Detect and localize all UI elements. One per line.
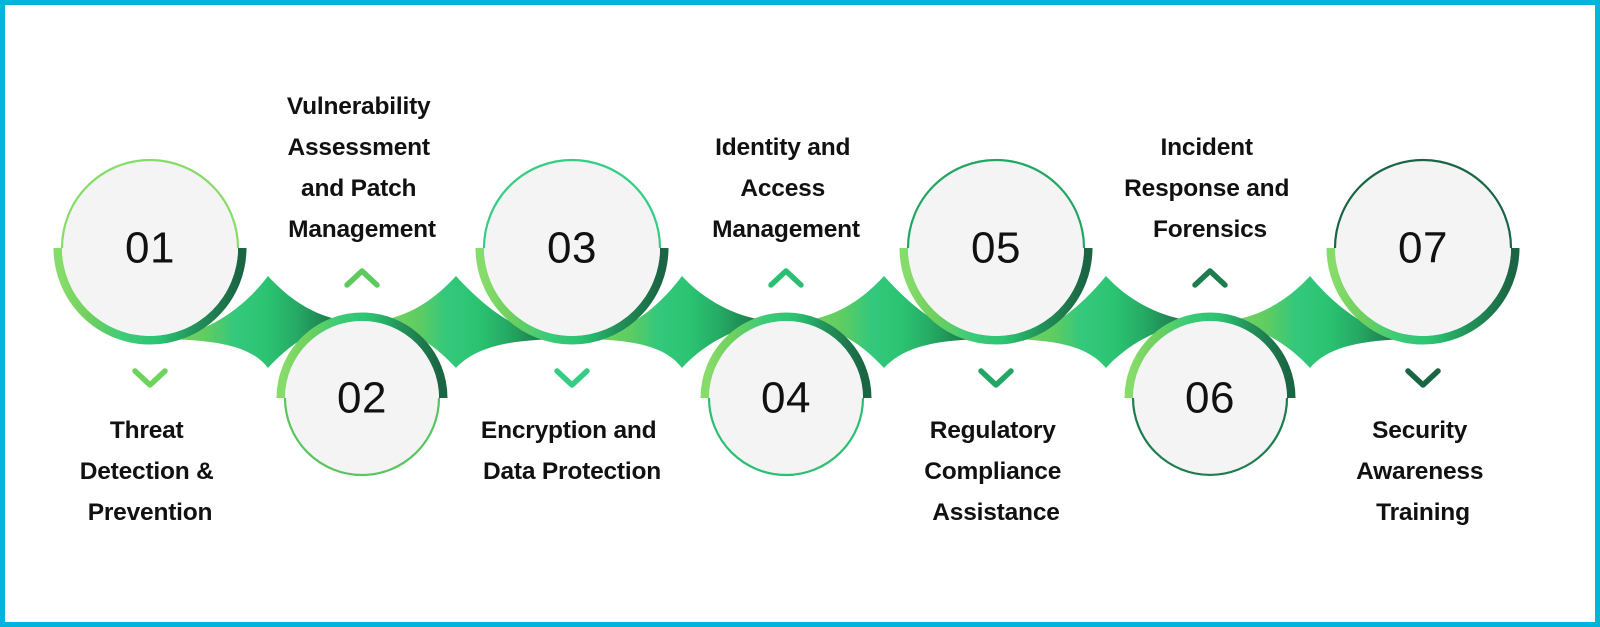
step-label-01: Threat Detection & Prevention [80,417,221,526]
step-number-02: 02 [337,374,387,423]
step-label-07: Security Awareness Training [1356,417,1490,526]
step-number-04: 04 [761,374,811,423]
chevron-up-icon-06 [1195,271,1225,285]
step-number-03: 03 [547,224,597,273]
step-label-03: Encryption and Data Protection [481,417,663,485]
step-node-06[interactable]: 06 [1133,321,1287,475]
chevron-up-icon-04 [771,271,801,285]
step-number-06: 06 [1185,374,1235,423]
step-label-04: Identity and Access Management [712,134,860,243]
chevron-up-icon-02 [347,271,377,285]
step-label-05: Regulatory Compliance Assistance [924,417,1067,526]
chevron-down-icon-07 [1408,371,1438,385]
chevron-down-icon-03 [557,371,587,385]
chevron-down-icon-05 [981,371,1011,385]
step-node-07[interactable]: 07 [1335,160,1511,336]
step-node-01[interactable]: 01 [62,160,238,336]
step-label-06: Incident Response and Forensics [1124,134,1296,243]
step-label-02: Vulnerability Assessment and Patch Manag… [287,93,437,243]
chevron-down-icon-01 [135,371,165,385]
step-node-05[interactable]: 05 [908,160,1084,336]
step-node-02[interactable]: 02 [285,321,439,475]
step-number-07: 07 [1398,224,1448,273]
step-number-05: 05 [971,224,1021,273]
step-node-04[interactable]: 04 [709,321,863,475]
process-flow-diagram: 01 02 03 04 05 [0,0,1600,627]
step-node-03[interactable]: 03 [484,160,660,336]
infographic-stage: 01 02 03 04 05 [0,0,1600,627]
step-number-01: 01 [125,224,175,273]
